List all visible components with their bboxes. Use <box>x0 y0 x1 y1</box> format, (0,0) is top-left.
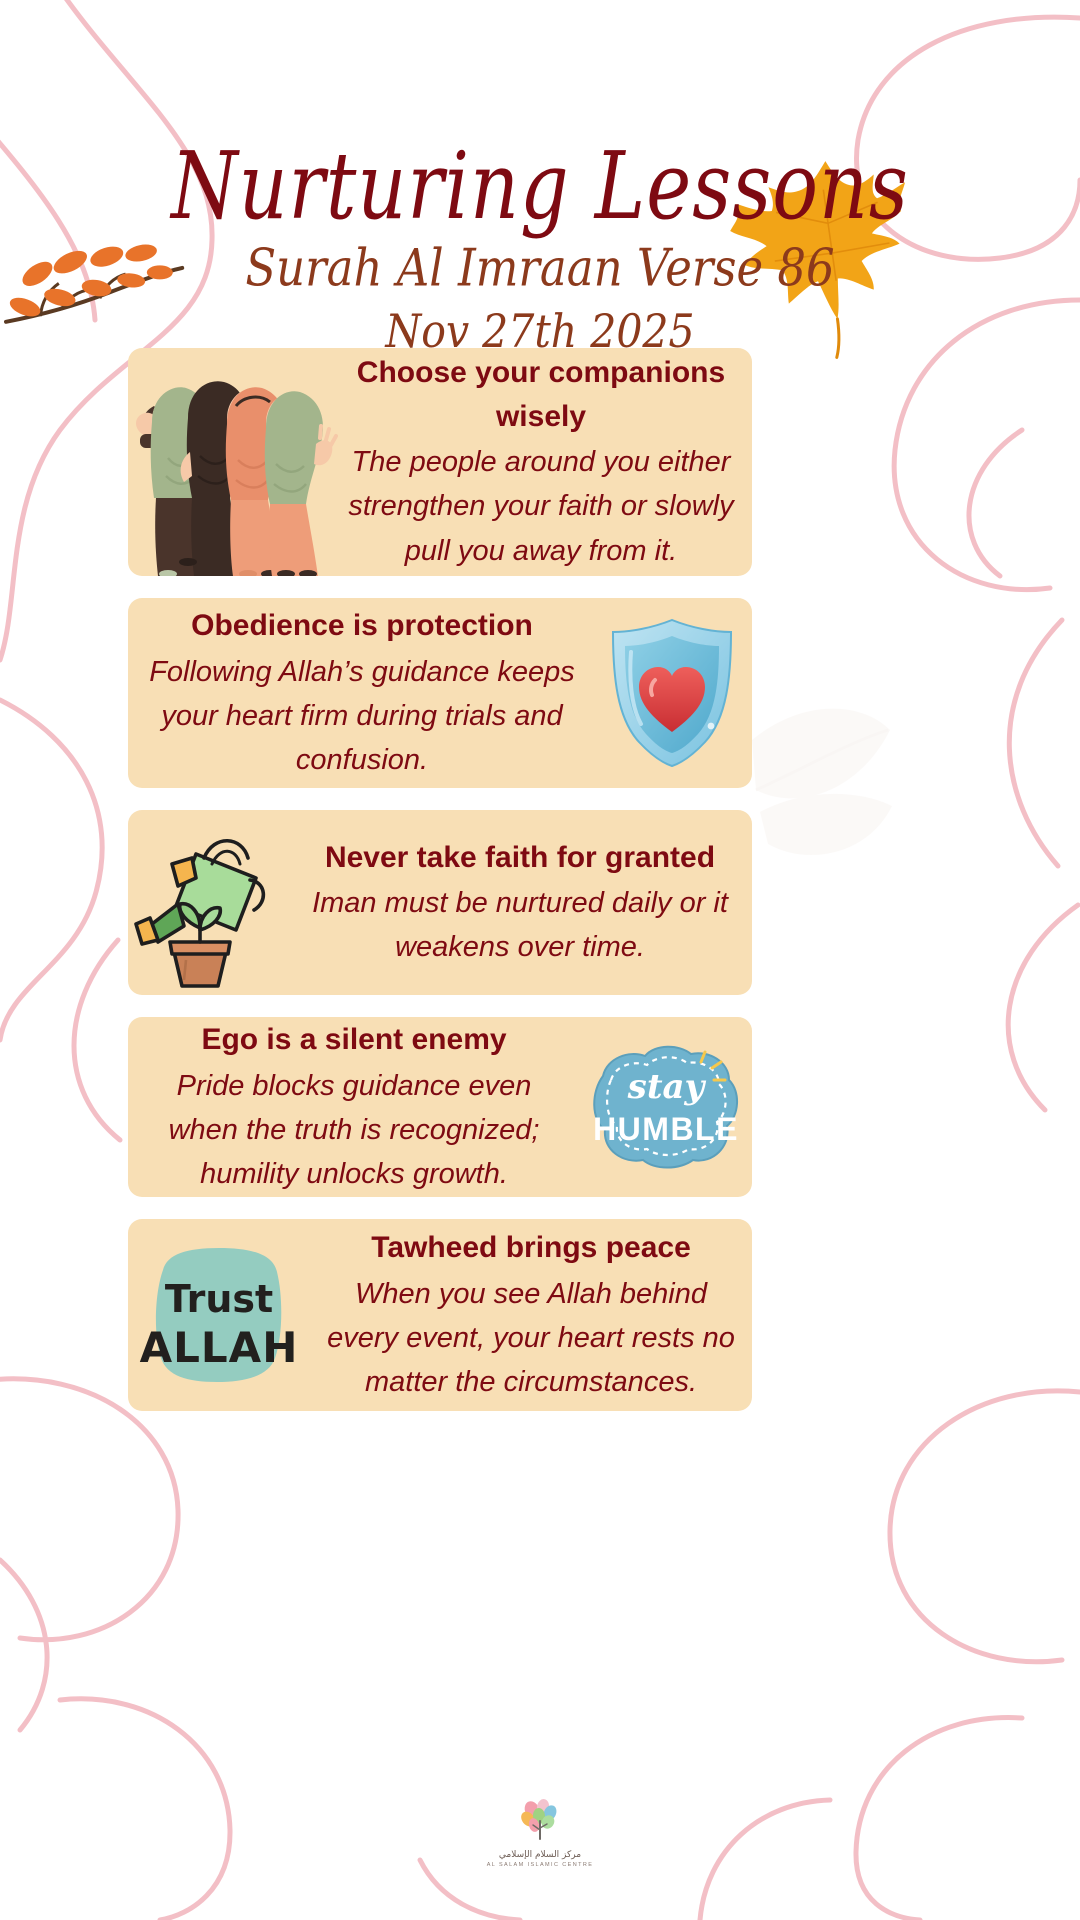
lesson-card-choose-your-companions-wisely[interactable]: Choose your companions wisely The people… <box>128 348 752 576</box>
card-text-block: Ego is a silent enemy Pride blocks guida… <box>128 1017 580 1197</box>
card-title: Tawheed brings peace <box>318 1226 744 1270</box>
faint-leaf-watermark <box>752 709 892 855</box>
card-title: Choose your companions wisely <box>348 351 734 438</box>
card-body: Iman must be nurtured daily or it weaken… <box>298 881 742 969</box>
card-text-block: Tawheed brings peace When you see Allah … <box>308 1220 752 1410</box>
card-text-block: Never take faith for granted Iman must b… <box>288 830 752 976</box>
card-title: Never take faith for granted <box>298 836 742 880</box>
watering-can-and-potted-plant-icon <box>128 810 288 995</box>
card-title: Obedience is protection <box>142 604 582 648</box>
shield-with-heart-icon <box>592 598 752 788</box>
poster-header: Nurturing Lessons Surah Al Imraan Verse … <box>0 0 1080 350</box>
card-title: Ego is a silent enemy <box>138 1018 570 1062</box>
page-title: Nurturing Lessons <box>0 140 1080 233</box>
lesson-card-list: Choose your companions wisely The people… <box>128 348 752 1433</box>
trust-allah-sticker: Trust ALLAH <box>128 1219 308 1411</box>
card-body: When you see Allah behind every event, y… <box>318 1272 744 1404</box>
footer-english-name: AL SALAM ISLAMIC CENTRE <box>0 1862 1080 1868</box>
lesson-card-never-take-faith-for-granted[interactable]: Never take faith for granted Iman must b… <box>128 810 752 995</box>
stay-humble-line1: stay <box>627 1067 707 1107</box>
card-text-block: Obedience is protection Following Allah’… <box>128 598 592 788</box>
page-date: Nov 27th 2025 <box>0 309 1080 355</box>
trust-allah-line1: Trust <box>165 1277 273 1321</box>
stay-humble-sticker: stay HUMBLE <box>580 1017 752 1197</box>
lesson-card-obedience-is-protection[interactable]: Obedience is protection Following Allah’… <box>128 598 752 788</box>
card-text-block: Choose your companions wisely The people… <box>338 348 752 576</box>
footer-arabic-name: مركز السلام الإسلامي <box>0 1850 1080 1860</box>
card-body: Pride blocks guidance even when the trut… <box>138 1064 570 1196</box>
lesson-card-tawheed-brings-peace[interactable]: Trust ALLAH Tawheed brings peace When yo… <box>128 1219 752 1411</box>
lesson-card-ego-is-a-silent-enemy[interactable]: stay HUMBLE Ego is a silent enemy Pride … <box>128 1017 752 1197</box>
stay-humble-line2: HUMBLE <box>593 1111 739 1147</box>
footer: مركز السلام الإسلامي AL SALAM ISLAMIC CE… <box>0 1797 1080 1868</box>
page-subtitle: Surah Al Imraan Verse 86 <box>0 242 1080 294</box>
card-body: The people around you either strengthen … <box>348 440 734 572</box>
colorful-tree-logo <box>512 1797 568 1847</box>
card-body: Following Allah’s guidance keeps your he… <box>142 650 582 782</box>
trust-allah-line2: ALLAH <box>140 1323 299 1372</box>
four-muslim-women-illustration <box>128 348 338 576</box>
